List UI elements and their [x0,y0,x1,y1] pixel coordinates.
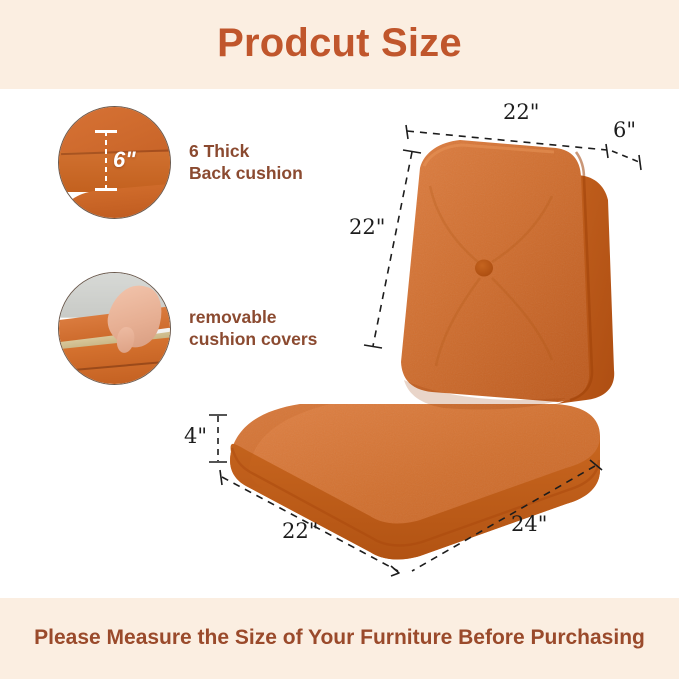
thickness-measure-line [105,131,107,189]
callout-line-1: removable [189,307,317,329]
dimension-label-back-width: 22" [503,100,539,124]
dimension-label-back-height: 22" [349,215,385,239]
removable-cover-thumbnail [58,272,171,385]
callout-text-thickness: 6 Thick Back cushion [189,141,303,185]
callout-line-2: Back cushion [189,163,303,185]
callout-line-2: cushion covers [189,329,317,351]
thickness-measure-cap-bottom [95,188,117,191]
product-size-infographic: Prodcut Size [0,0,679,679]
callout-back-cushion-thickness: 6" 6 Thick Back cushion [58,106,303,219]
callout-removable-covers: removable cushion covers [58,272,317,385]
dimension-label-seat-depth: 22" [282,519,318,543]
thickness-measure-label: 6" [113,147,136,173]
back-cushion-thumbnail: 6" [58,106,171,219]
dimension-label-back-depth: 6" [613,118,636,142]
callout-text-covers: removable cushion covers [189,307,317,351]
back-cushion [401,140,614,410]
callout-line-1: 6 Thick [189,141,303,163]
dimension-label-seat-thickness: 4" [184,424,207,448]
thickness-measure-cap-top [95,130,117,133]
footer-banner: Please Measure the Size of Your Furnitur… [0,598,679,679]
footer-message: Please Measure the Size of Your Furnitur… [20,624,660,652]
dimension-label-seat-width: 24" [511,512,547,536]
